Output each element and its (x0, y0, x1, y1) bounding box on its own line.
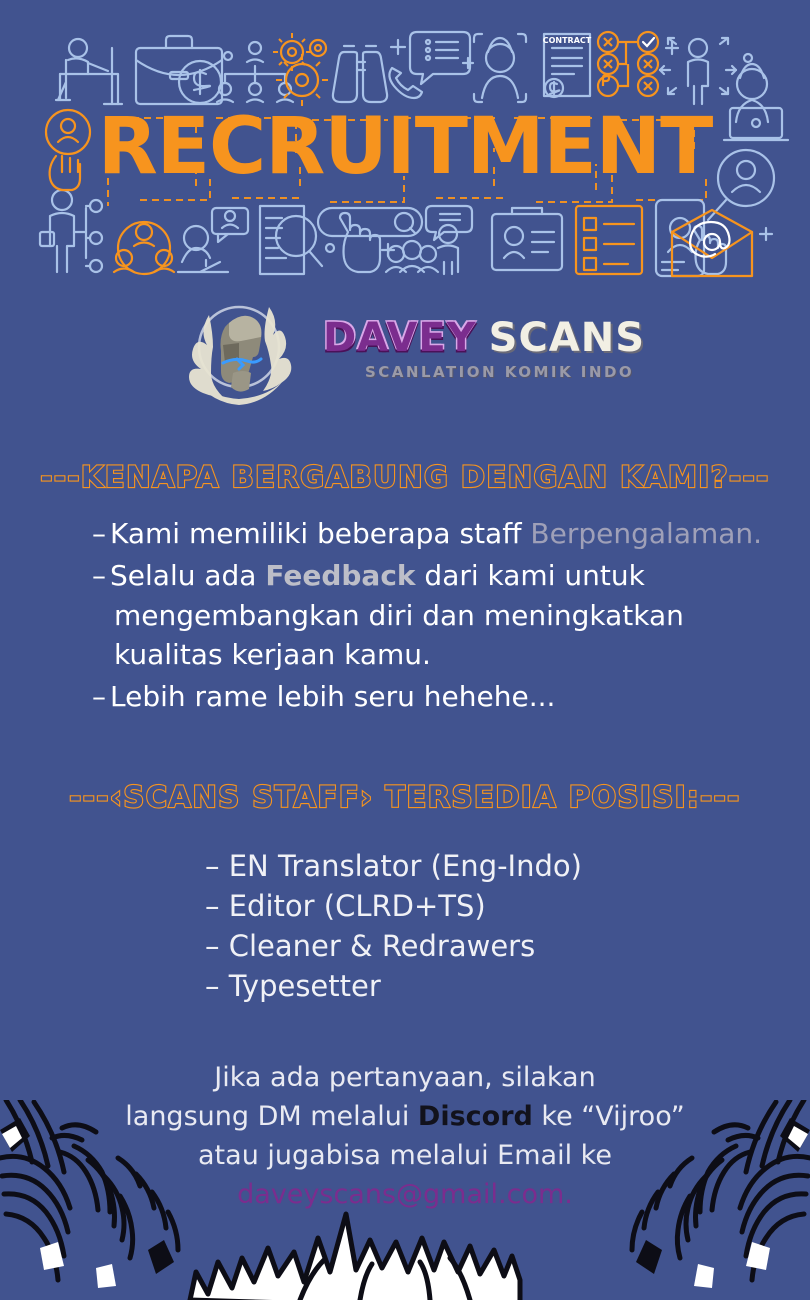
reason-text: Kami memiliki beberapa staff (110, 517, 530, 550)
manga-panel-line-art-decoration (0, 1100, 810, 1300)
logo-tagline: SCANLATION KOMIK INDO (365, 363, 634, 381)
banner-title: RECRUITMENT (0, 108, 810, 186)
spiky-band (190, 1214, 520, 1300)
logo-name-davey: DAVEY (323, 318, 477, 358)
list-item: –Kami memiliki beberapa staff Berpengala… (92, 514, 792, 554)
list-item: – Cleaner & Redrawers (205, 926, 605, 966)
list-item: – Editor (CLRD+TS) (205, 886, 605, 926)
section-heading-why: ---KENAPA BERGABUNG DENGAN KAMI?--- (0, 460, 810, 494)
reason-text: Selalu ada (110, 559, 265, 592)
brand-logo: DAVEY SCANS SCANLATION KOMIK INDO (0, 296, 810, 406)
reason-highlight: Berpengalaman. (530, 517, 762, 550)
reason-highlight: Feedback (265, 559, 415, 592)
contact-line-1: Jika ada pertanyaan, silakan (0, 1058, 810, 1097)
banner-illustration: CONTRACT (0, 0, 810, 290)
logo-name-scans: SCANS (489, 318, 645, 358)
bullet-dash: – (92, 559, 106, 592)
section-heading-positions: ---‹SCANS STAFF› TERSEDIA POSISI:--- (0, 780, 810, 814)
reason-text: Lebih rame lebih seru hehehe... (110, 680, 555, 713)
recruitment-poster: CONTRACT (0, 0, 810, 1300)
list-item: – Typesetter (205, 966, 605, 1006)
positions-list: – EN Translator (Eng-Indo) – Editor (CLR… (0, 846, 810, 1006)
list-item: –Selalu ada Feedback dari kami untuk men… (92, 556, 792, 675)
bullet-dash: – (92, 680, 106, 713)
bullet-dash: – (92, 517, 106, 550)
spartan-helmet-flames-icon (165, 297, 315, 405)
reason-text-after: dari kami untuk (416, 559, 645, 592)
reason-continuation: mengembangkan diri dan meningkatkan (92, 596, 792, 636)
contract-label: CONTRACT (543, 36, 592, 45)
list-item: –Lebih rame lebih seru hehehe... (92, 677, 792, 717)
reasons-list: –Kami memiliki beberapa staff Berpengala… (92, 514, 792, 719)
reason-continuation: kualitas kerjaan kamu. (92, 635, 792, 675)
list-item: – EN Translator (Eng-Indo) (205, 846, 605, 886)
